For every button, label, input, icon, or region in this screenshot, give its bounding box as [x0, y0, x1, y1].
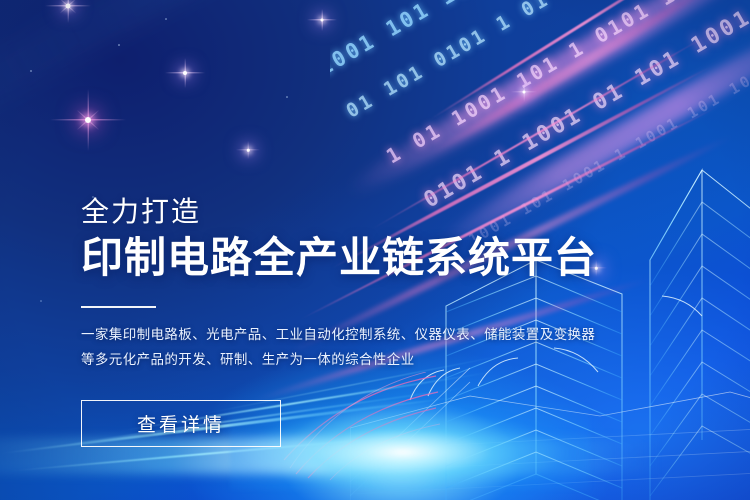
- hero-description-line-2: 等多元化产品的开发、研制、生产为一体的综合性企业: [81, 347, 601, 372]
- hero-divider: [81, 306, 156, 308]
- view-details-button[interactable]: 查看详情: [81, 400, 281, 447]
- hero-description-line-1: 一家集印制电路板、光电产品、工业自动化控制系统、仪器仪表、储能装置及变换器: [81, 322, 601, 347]
- hero-headline: 印制电路全产业链系统平台: [81, 237, 601, 280]
- hero-eyebrow: 全力打造: [81, 196, 601, 227]
- hero-description: 一家集印制电路板、光电产品、工业自动化控制系统、仪器仪表、储能装置及变换器 等多…: [81, 322, 601, 372]
- hero-banner: 1001 101 1001 1 1001 101 1001 101 1 1001…: [0, 0, 750, 500]
- hero-content: 全力打造 印制电路全产业链系统平台 一家集印制电路板、光电产品、工业自动化控制系…: [81, 196, 601, 447]
